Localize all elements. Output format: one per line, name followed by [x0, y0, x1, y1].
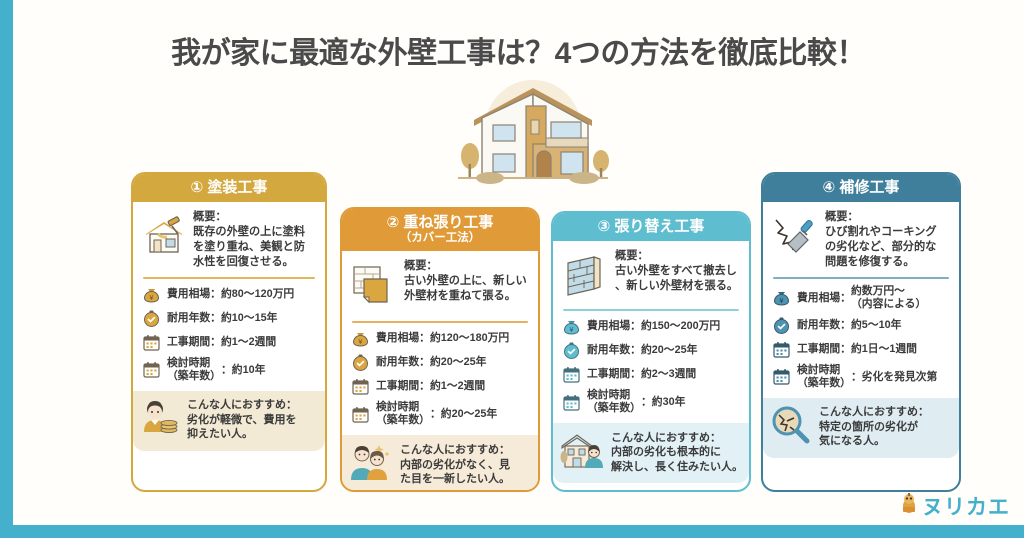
page-title: 我が家に最適な外壁工事は？4つの方法を徹底比較！ — [13, 28, 1024, 72]
mascot-icon — [900, 493, 918, 520]
spec-text: 耐用年数：約10〜15年 — [167, 312, 277, 325]
stopwatch-icon — [351, 353, 370, 372]
spec-text: 費用相場：約数万円〜（内容による） — [797, 285, 926, 311]
calendar-icon — [351, 377, 370, 396]
summary-text: 概要： 古い外壁をすべて撤去し 、新しい外壁材を張る。 — [615, 249, 738, 294]
spec-text: 費用相場：約80〜120万円 — [167, 288, 294, 301]
summary-line: ひび割れやコーキング — [825, 226, 937, 238]
recommendation-text: こんな人におすすめ： 特定の箇所の劣化が 気になる人。 — [819, 405, 929, 449]
svg-text:¥: ¥ — [150, 295, 154, 302]
summary-line: 古い外壁をすべて撤去し — [615, 265, 737, 277]
card-body: 概要： 古い外壁をすべて撤去し 、新しい外壁材を張る。 ¥ 費用相場：約150〜… — [553, 241, 749, 490]
summary-line: を塗り重ね、美観と防 — [193, 241, 305, 253]
summary-line: 古い外壁の上に、新しい — [404, 275, 527, 287]
spec-durability: 耐用年数：約20〜25年 — [562, 341, 740, 360]
summary-line: 外壁材を重ねて張る。 — [404, 290, 516, 302]
calendar-icon — [562, 393, 581, 412]
card-number: ④ — [823, 179, 836, 196]
calendar-icon — [772, 367, 791, 386]
spec-text: 工事期間：約1〜2週間 — [376, 380, 485, 393]
summary-line: 問題を修復する。 — [825, 256, 915, 268]
card-title: 塗装工事 — [207, 179, 267, 196]
spec-list: ¥ 費用相場：約120〜180万円 耐用年数：約20〜25年 工事期間：約1〜2… — [351, 329, 529, 427]
brick-wall-panel-icon — [562, 249, 608, 302]
card-subtitle: （カバー工法） — [344, 232, 536, 245]
layered-wall-panel-icon — [351, 259, 397, 314]
spec-cost: ¥ 費用相場：約80〜120万円 — [142, 285, 316, 304]
spec-duration: 工事期間：約1〜2週間 — [142, 333, 316, 352]
card-body: 概要： 古い外壁の上に、新しい 外壁材を重ねて張る。 ¥ 費用相場：約120〜1… — [342, 251, 538, 492]
calendar-icon — [772, 340, 791, 359]
spec-cost: ¥ 費用相場：約120〜180万円 — [351, 329, 529, 348]
calendar-icon — [351, 405, 370, 424]
card-title: 重ね張り工事 — [403, 214, 493, 231]
spec-text: 工事期間：約1日〜1週間 — [797, 343, 917, 356]
recommendation-block: こんな人におすすめ： 特定の箇所の劣化が 気になる人。 — [763, 398, 959, 458]
spec-text: 工事期間：約2〜3週間 — [587, 368, 696, 381]
two-story-house-illustration — [438, 78, 628, 186]
divider — [143, 277, 315, 279]
brand-name: ヌリカエ — [922, 491, 1010, 521]
card-header: ① 塗装工事 — [133, 174, 325, 202]
spec-list: ¥ 費用相場：約150〜200万円 耐用年数：約20〜25年 工事期間：約2〜3… — [562, 317, 740, 415]
spec-durability: 耐用年数：約10〜15年 — [142, 309, 316, 328]
magnifier-crack-icon — [770, 405, 812, 450]
summary-label: 概要： — [615, 249, 738, 264]
card-title: 張り替え工事 — [614, 218, 704, 235]
calendar-icon — [142, 333, 161, 352]
card-body: 概要： 既存の外壁の上に塗料 を塗り重ね、美観と防 水性を回復させる。 ¥ 費用… — [133, 202, 325, 490]
summary-text: 概要： 古い外壁の上に、新しい 外壁材を重ねて張る。 — [404, 259, 527, 304]
spec-duration: 工事期間：約1〜2週間 — [351, 377, 529, 396]
spec-list: ¥ 費用相場：約80〜120万円 耐用年数：約10〜15年 工事期間：約1〜2週… — [142, 285, 316, 383]
spec-duration: 工事期間：約2〜3週間 — [562, 365, 740, 384]
stopwatch-icon — [772, 316, 791, 335]
card-header: ③ 張り替え工事 — [553, 213, 749, 241]
summary-line: 既存の外壁の上に塗料 — [193, 226, 305, 238]
spec-text: 耐用年数：約20〜25年 — [376, 356, 486, 369]
money-bag-icon: ¥ — [351, 329, 370, 348]
card-header: ② 重ね張り工事 （カバー工法） — [342, 209, 538, 251]
divider — [563, 309, 739, 311]
spec-duration: 工事期間：約1日〜1週間 — [772, 340, 950, 359]
divider — [773, 277, 949, 279]
infographic-page: 我が家に最適な外壁工事は？4つの方法を徹底比較！ — [0, 0, 1024, 538]
spec-timing: 検討時期（築年数）：約10年 — [142, 357, 316, 383]
recommendation-text: こんな人におすすめ： 劣化が軽微で、費用を 抑えたい人。 — [187, 398, 297, 442]
card-body: 概要： ひび割れやコーキング の劣化など、部分的な 問題を修復する。 ¥ 費用相… — [763, 202, 959, 490]
card-number: ③ — [598, 218, 611, 235]
summary-block: 概要： ひび割れやコーキング の劣化など、部分的な 問題を修復する。 — [772, 210, 950, 270]
spec-cost: ¥ 費用相場：約数万円〜（内容による） — [772, 285, 950, 311]
recommendation-block: こんな人におすすめ： 内部の劣化がなく、見 た目を一新したい人。 — [342, 435, 538, 492]
stopwatch-icon — [142, 309, 161, 328]
card-number: ① — [191, 179, 204, 196]
money-bag-icon: ¥ — [772, 288, 791, 307]
spec-text: 耐用年数：約20〜25年 — [587, 344, 697, 357]
card-number: ② — [387, 214, 400, 231]
summary-label: 概要： — [825, 210, 937, 225]
person-with-coins-icon — [140, 398, 180, 443]
brand-logo[interactable]: ヌリカエ — [900, 491, 1010, 521]
card-repair[interactable]: ④ 補修工事 概要： ひび割れやコーキング の劣化など、部分的な 問題を — [761, 172, 961, 492]
spec-text: 費用相場：約150〜200万円 — [587, 320, 720, 333]
calendar-icon — [142, 360, 161, 379]
spec-cost: ¥ 費用相場：約150〜200万円 — [562, 317, 740, 336]
card-replacement[interactable]: ③ 張り替え工事 概要： 古い外壁をすべて撤去し — [551, 211, 751, 492]
couple-sparkle-icon — [349, 442, 393, 487]
spec-timing: 検討時期（築年数）：約20〜25年 — [351, 401, 529, 427]
svg-text:¥: ¥ — [780, 298, 784, 305]
house-paint-roller-icon — [142, 210, 186, 263]
spec-timing: 検討時期（築年数）：劣化を発見次第 — [772, 364, 950, 390]
svg-text:¥: ¥ — [359, 339, 363, 346]
spec-text: 工事期間：約1〜2週間 — [167, 336, 276, 349]
money-bag-icon: ¥ — [142, 285, 161, 304]
divider — [352, 321, 528, 323]
recommend-label: こんな人におすすめ： — [400, 443, 510, 458]
spec-text: 費用相場：約120〜180万円 — [376, 332, 509, 345]
spec-durability: 耐用年数：約5〜10年 — [772, 316, 950, 335]
recommendation-block: こんな人におすすめ： 劣化が軽微で、費用を 抑えたい人。 — [133, 391, 325, 451]
money-bag-icon: ¥ — [562, 317, 581, 336]
recommend-label: こんな人におすすめ： — [819, 405, 929, 420]
summary-label: 概要： — [404, 259, 527, 274]
spec-list: ¥ 費用相場：約数万円〜（内容による） 耐用年数：約5〜10年 — [772, 285, 950, 390]
recommend-label: こんな人におすすめ： — [187, 398, 297, 413]
spec-text: 検討時期（築年数）：約10年 — [167, 357, 265, 383]
summary-line: 、新しい外壁材を張る。 — [615, 280, 738, 292]
recommendation-block: こんな人におすすめ： 内部の劣化も根本的に 解決し、長く住みたい人。 — [553, 423, 749, 483]
summary-block: 概要： 古い外壁の上に、新しい 外壁材を重ねて張る。 — [351, 259, 529, 314]
summary-block: 概要： 既存の外壁の上に塗料 を塗り重ね、美観と防 水性を回復させる。 — [142, 210, 316, 270]
calendar-icon — [562, 365, 581, 384]
trowel-crack-repair-icon — [772, 210, 818, 265]
summary-text: 概要： ひび割れやコーキング の劣化など、部分的な 問題を修復する。 — [825, 210, 937, 270]
card-painting[interactable]: ① 塗装工事 概要： 既存の外壁の — [131, 172, 327, 492]
recommend-label: こんな人におすすめ： — [611, 431, 743, 446]
svg-text:¥: ¥ — [570, 327, 574, 334]
spec-durability: 耐用年数：約20〜25年 — [351, 353, 529, 372]
spec-text: 検討時期（築年数）：約20〜25年 — [376, 401, 497, 427]
summary-block: 概要： 古い外壁をすべて撤去し 、新しい外壁材を張る。 — [562, 249, 740, 302]
card-title: 補修工事 — [839, 179, 899, 196]
summary-line: 水性を回復させる。 — [193, 256, 294, 268]
recommendation-text: こんな人におすすめ： 内部の劣化も根本的に 解決し、長く住みたい人。 — [611, 431, 743, 475]
spec-text: 検討時期（築年数）：劣化を発見次第 — [797, 364, 937, 390]
card-overlay[interactable]: ② 重ね張り工事 （カバー工法） 概要： 古い外壁の上に、新しい 外壁材を重ねて — [340, 207, 540, 492]
spec-text: 検討時期（築年数）：約30年 — [587, 389, 685, 415]
stopwatch-icon — [562, 341, 581, 360]
summary-line: の劣化など、部分的な — [825, 241, 936, 253]
spec-text: 耐用年数：約5〜10年 — [797, 319, 901, 332]
card-header: ④ 補修工事 — [763, 174, 959, 202]
summary-text: 概要： 既存の外壁の上に塗料 を塗り重ね、美観と防 水性を回復させる。 — [193, 210, 305, 270]
summary-label: 概要： — [193, 210, 305, 225]
recommendation-text: こんな人におすすめ： 内部の劣化がなく、見 た目を一新したい人。 — [400, 443, 510, 487]
spec-timing: 検討時期（築年数）：約30年 — [562, 389, 740, 415]
house-with-person-icon — [560, 430, 604, 475]
